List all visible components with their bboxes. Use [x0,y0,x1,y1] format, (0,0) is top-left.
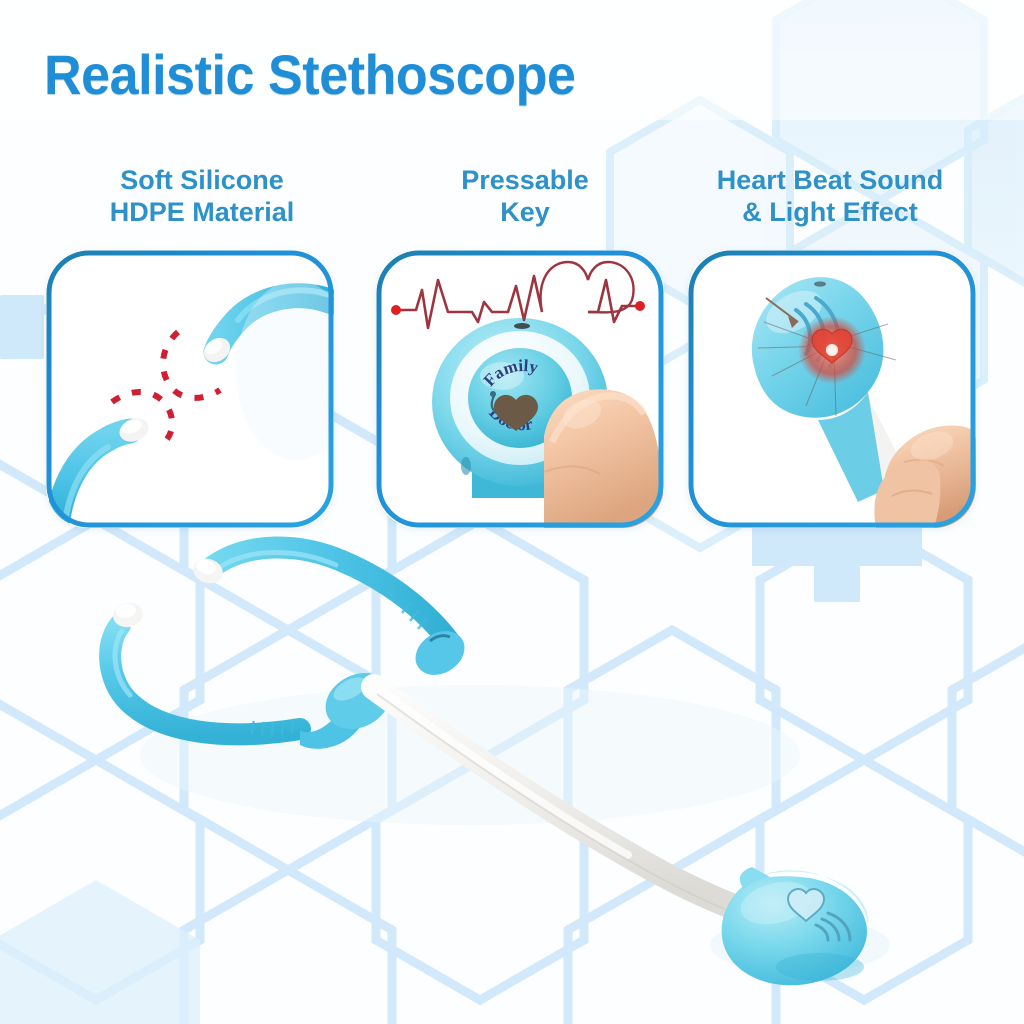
product-stethoscope [0,505,1024,1024]
page-title: Realistic Stethoscope [44,42,575,107]
glowing-heart-light-illustration [688,250,976,528]
decor-tab-left [0,295,44,359]
feature-caption-heart-beat-sound: Heart Beat Sound & Light Effect [676,165,984,228]
led-heart-light [798,316,866,384]
infographic-canvas: Realistic Stethoscope Soft Silicone HDPE… [0,0,1024,1024]
chest-piece [722,867,869,985]
feature-caption-line1: Soft Silicone [120,165,284,195]
feature-caption-line2: HDPE Material [52,197,352,229]
feature-panel-pressable-key: Family Doctor [376,250,664,528]
finger-pressing-key-illustration: Family Doctor [376,250,664,528]
feature-panel-soft-silicone [46,250,334,528]
feature-panel-heart-beat-sound [688,250,976,528]
feature-caption-line1: Heart Beat Sound [717,165,944,195]
feature-caption-soft-silicone: Soft Silicone HDPE Material [52,165,352,228]
flexible-tube-illustration [46,250,334,528]
feature-caption-line1: Pressable [461,165,589,195]
feature-caption-line2: & Light Effect [676,197,984,229]
feature-caption-line2: Key [380,197,670,229]
feature-caption-pressable-key: Pressable Key [380,165,670,228]
